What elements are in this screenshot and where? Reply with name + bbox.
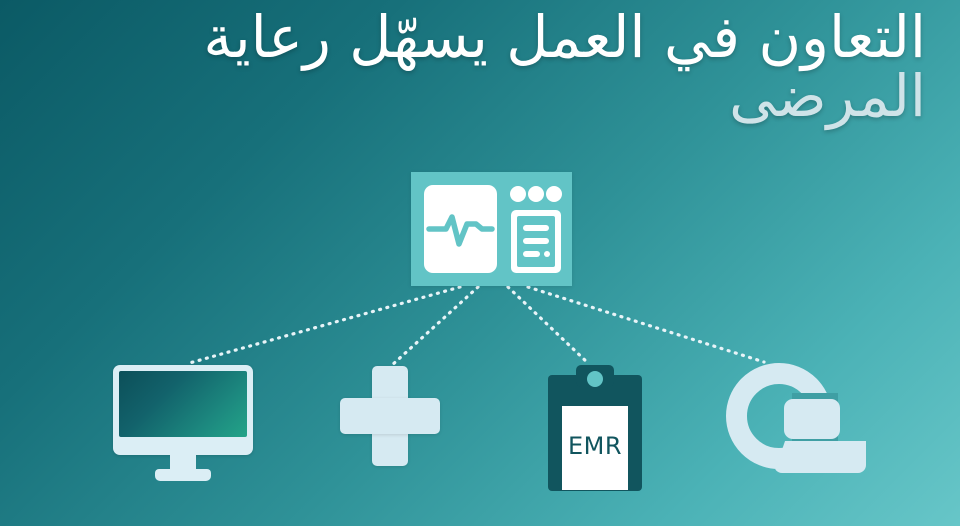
- status-dot-2: [528, 186, 544, 202]
- clipboard-board: EMR: [548, 375, 642, 491]
- document-line-2: [523, 238, 549, 244]
- scanner-patient-table: [774, 441, 866, 473]
- connector-to-scanner: [528, 287, 764, 362]
- connector-to-cross: [391, 287, 478, 366]
- ecg-waveform-icon: [424, 185, 497, 273]
- connector-to-monitor: [186, 287, 460, 364]
- status-dots-group: [510, 186, 562, 202]
- medical-cross-icon[interactable]: [340, 366, 440, 466]
- cross-horizontal-bar: [340, 398, 440, 434]
- clipboard-clip-hole: [587, 371, 603, 387]
- scanner-bore: [784, 399, 840, 439]
- vitals-card: [424, 185, 497, 273]
- document-lines-icon: [517, 216, 555, 267]
- title-line-primary: التعاون في العمل يسهّل رعاية: [26, 8, 926, 67]
- title-line-secondary: المرضى: [26, 67, 926, 126]
- clipboard-paper: EMR: [562, 406, 628, 490]
- monitor-frame: [113, 365, 253, 455]
- emr-label: EMR: [562, 432, 628, 460]
- central-dashboard-panel[interactable]: [411, 172, 572, 286]
- desktop-monitor-icon[interactable]: [113, 365, 253, 482]
- status-dot-1: [510, 186, 526, 202]
- page-title: التعاون في العمل يسهّل رعاية المرضى: [26, 8, 926, 126]
- status-dot-3: [546, 186, 562, 202]
- slide-canvas: التعاون في العمل يسهّل رعاية المرضى: [0, 0, 960, 526]
- document-bullet-dot: [544, 251, 550, 257]
- monitor-stand-base: [155, 469, 211, 481]
- monitor-screen: [119, 371, 247, 437]
- document-line-3: [523, 251, 540, 257]
- connector-to-emr: [508, 287, 589, 364]
- ct-scanner-icon[interactable]: [726, 363, 866, 475]
- emr-clipboard-icon[interactable]: EMR: [548, 365, 642, 491]
- document-card: [511, 210, 561, 273]
- document-line-1: [523, 225, 549, 231]
